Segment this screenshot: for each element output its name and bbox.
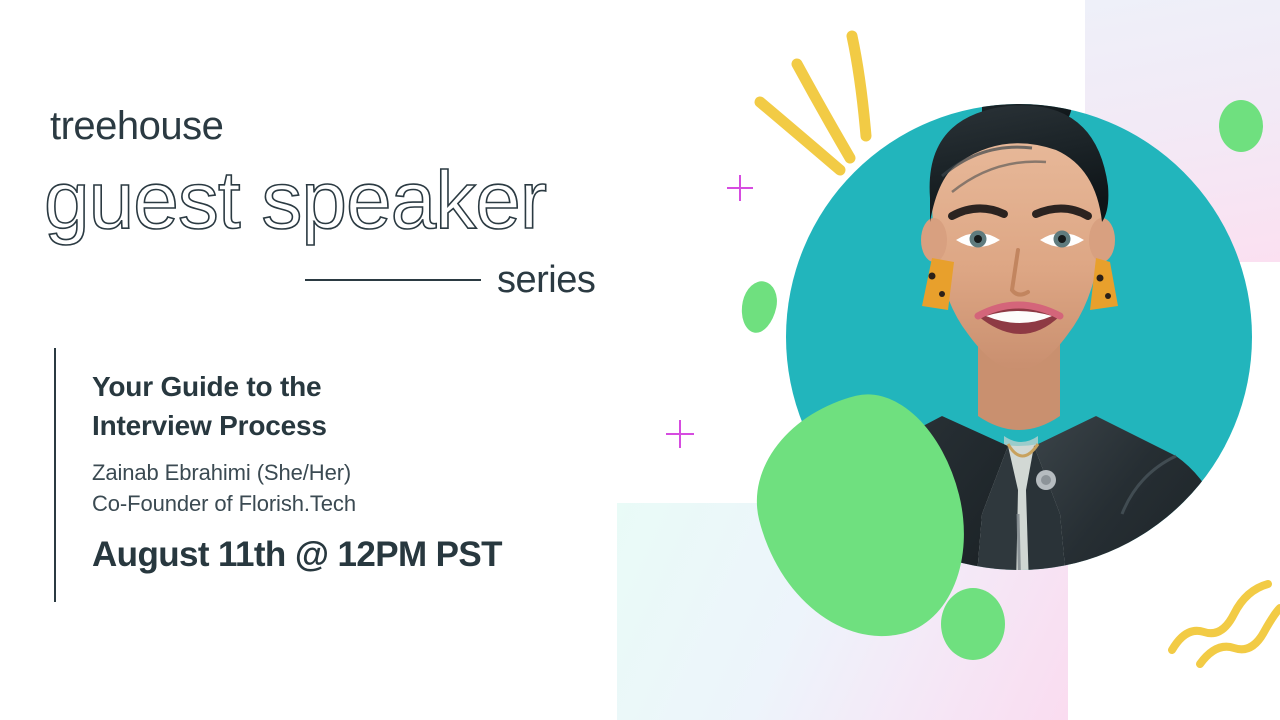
talk-details-block: Your Guide to the Interview Process Zain… [92,368,612,574]
magenta-plus-icon-left [666,420,694,448]
talk-title-line-2: Interview Process [92,407,612,446]
speaker-name: Zainab Ebrahimi (She/Her) [92,457,612,488]
speaker-role: Co-Founder of Florish.Tech [92,488,612,519]
yellow-sparkle-strokes-icon [740,28,910,228]
event-datetime: August 11th @ 12PM PST [92,536,612,575]
series-label: series [497,261,595,299]
talk-title-line-1: Your Guide to the [92,368,612,407]
page-title-outline: guest speaker [44,160,546,242]
green-blob-circle-top-icon [1219,100,1263,152]
vertical-accent-rule [54,348,56,602]
treehouse-wordmark: treehouse [50,106,223,146]
yellow-squiggle-lines-icon [1160,578,1280,720]
slide-canvas: treehouse guest speaker series Your Guid… [0,0,1280,720]
green-blob-circle-bottom-icon [941,588,1005,660]
green-blob-small-icon [737,278,781,336]
series-row: series [305,258,625,302]
series-divider-rule [305,279,481,281]
